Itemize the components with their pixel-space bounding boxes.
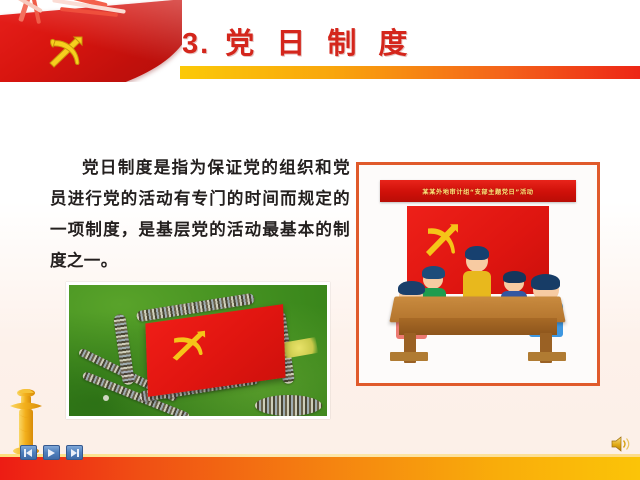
bench	[528, 352, 566, 361]
title-text: 党 日 制 度	[225, 28, 414, 60]
hammer-and-sickle-icon	[46, 33, 86, 69]
person-hair	[531, 274, 560, 290]
person-hair	[503, 271, 526, 283]
next-icon	[70, 449, 79, 457]
play-pause-button[interactable]	[43, 445, 60, 460]
bench	[390, 352, 428, 361]
bottom-gradient-bar	[0, 457, 640, 480]
person-hair	[422, 266, 445, 279]
meeting-table-edge	[399, 318, 556, 335]
page-title: 3. 党 日 制 度	[182, 20, 414, 62]
speaker-icon[interactable]	[610, 434, 632, 454]
hammer-and-sickle-icon	[422, 220, 462, 258]
previous-icon	[24, 449, 33, 457]
slide-canvas: 3. 党 日 制 度 党日制度是指为保证党的组织和党员进行党的活动有专门的时间而…	[0, 0, 640, 480]
field-marker	[103, 395, 109, 401]
ribbon-strand	[15, 0, 43, 13]
crowd-cluster	[255, 395, 322, 416]
person-hair	[398, 281, 425, 296]
next-slide-button[interactable]	[66, 445, 83, 460]
hammer-and-sickle-icon	[168, 326, 210, 363]
body-paragraph: 党日制度是指为保证党的组织和党员进行党的活动有专门的时间而规定的一项制度，是基层…	[50, 153, 350, 277]
cartoon-party-day-meeting: 某某外地审计组“支部主题党日”活动	[356, 162, 600, 386]
title-underline-bar	[180, 66, 640, 79]
meeting-banner-text: 某某外地审计组“支部主题党日”活动	[422, 187, 533, 196]
title-number: 3.	[182, 28, 210, 60]
person-hair	[465, 246, 489, 261]
meeting-banner: 某某外地审计组“支部主题党日”活动	[380, 180, 575, 202]
aerial-crowd-party-flag-photo	[66, 282, 330, 419]
flag-banner-decoration	[0, 0, 182, 82]
previous-slide-button[interactable]	[20, 445, 37, 460]
person-speaker	[466, 250, 487, 302]
play-icon	[47, 449, 56, 457]
slideshow-controls	[20, 445, 83, 460]
